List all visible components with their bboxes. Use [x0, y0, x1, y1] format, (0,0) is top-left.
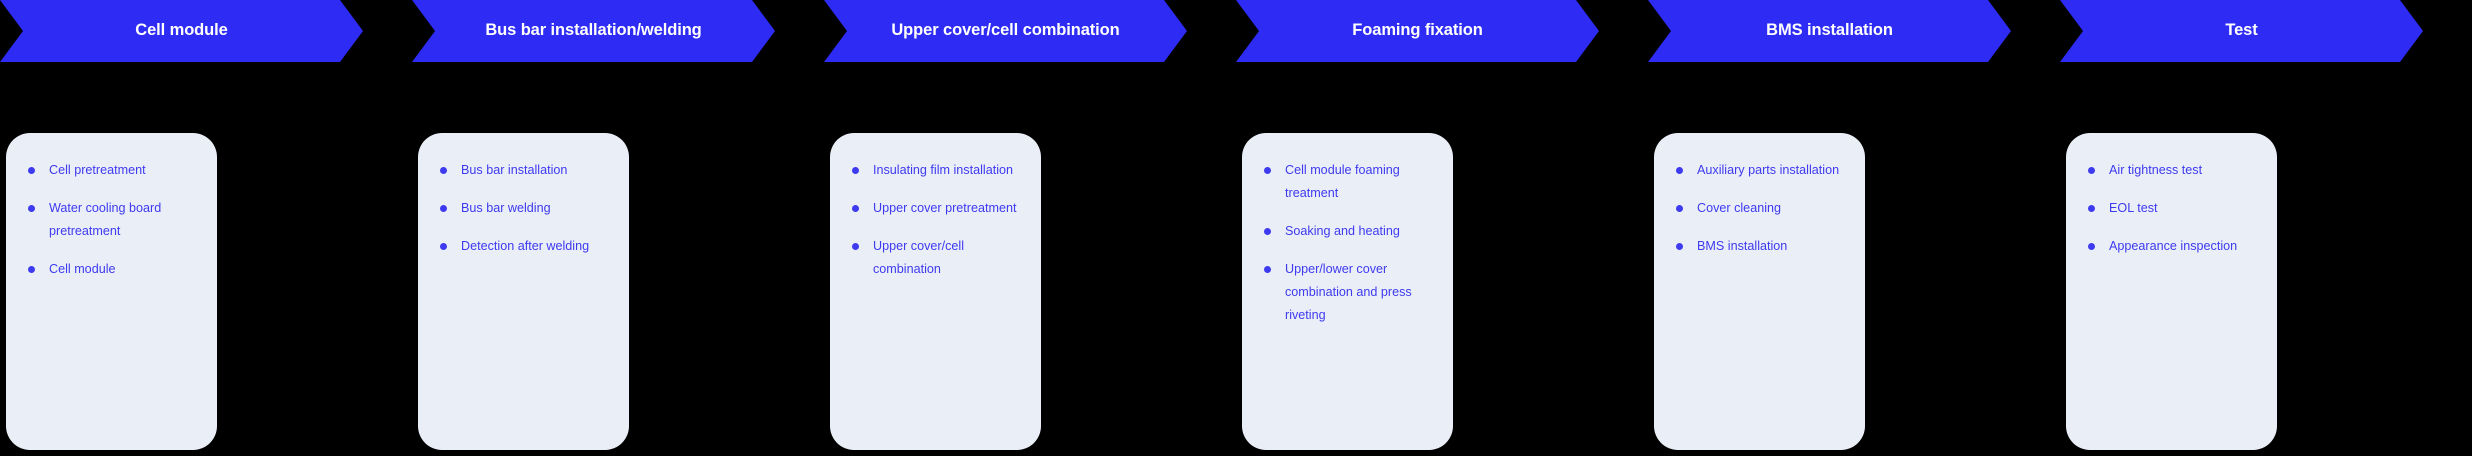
list-item: EOL test: [2088, 197, 2261, 220]
process-step-5: BMS installation Auxiliary parts install…: [1648, 0, 2060, 456]
list-item-label: Appearance inspection: [2109, 235, 2261, 258]
list-item: Upper cover pretreatment: [852, 197, 1025, 220]
step-4-title: Foaming fixation: [1352, 20, 1482, 41]
list-item-label: Bus bar installation: [461, 159, 613, 182]
list-item-label: Soaking and heating: [1285, 220, 1437, 243]
step-4-detail-card: Cell module foaming treatment Soaking an…: [1242, 133, 1453, 450]
bullet-dot-icon: [852, 243, 859, 250]
step-6-title: Test: [2225, 20, 2257, 41]
step-5-title: BMS installation: [1766, 20, 1893, 41]
step-1-title: Cell module: [135, 20, 227, 41]
bullet-dot-icon: [1264, 266, 1271, 273]
bullet-dot-icon: [1676, 167, 1683, 174]
bullet-dot-icon: [1676, 243, 1683, 250]
bullet-dot-icon: [2088, 243, 2095, 250]
list-item: Water cooling board pretreatment: [28, 197, 201, 243]
list-item-label: Air tightness test: [2109, 159, 2261, 182]
list-item: Detection after welding: [440, 235, 613, 258]
bullet-dot-icon: [440, 205, 447, 212]
list-item: Cell module foaming treatment: [1264, 159, 1437, 205]
list-item: Insulating film installation: [852, 159, 1025, 182]
list-item-label: Upper/lower cover combination and press …: [1285, 258, 1437, 327]
list-item-label: Cell module foaming treatment: [1285, 159, 1437, 205]
list-item-label: BMS installation: [1697, 235, 1849, 258]
step-2-bullet-list: Bus bar installation Bus bar welding Det…: [440, 159, 613, 258]
list-item: Soaking and heating: [1264, 220, 1437, 243]
step-6-detail-card: Air tightness test EOL test Appearance i…: [2066, 133, 2277, 450]
list-item-label: Upper cover pretreatment: [873, 197, 1025, 220]
process-step-6: Test Air tightness test EOL test Appeara…: [2060, 0, 2472, 456]
step-5-chevron-header[interactable]: BMS installation: [1648, 0, 2011, 62]
step-2-title: Bus bar installation/welding: [485, 20, 701, 41]
list-item-label: Cell pretreatment: [49, 159, 201, 182]
bullet-dot-icon: [440, 243, 447, 250]
process-step-3: Upper cover/cell combination Insulating …: [824, 0, 1236, 456]
list-item: Auxiliary parts installation: [1676, 159, 1849, 182]
list-item-label: Detection after welding: [461, 235, 613, 258]
step-5-detail-card: Auxiliary parts installation Cover clean…: [1654, 133, 1865, 450]
bullet-dot-icon: [28, 205, 35, 212]
step-1-bullet-list: Cell pretreatment Water cooling board pr…: [28, 159, 201, 281]
step-2-chevron-header[interactable]: Bus bar installation/welding: [412, 0, 775, 62]
process-flow-diagram: Cell module Cell pretreatment Water cool…: [0, 0, 2472, 456]
list-item: Bus bar installation: [440, 159, 613, 182]
list-item-label: Cell module: [49, 258, 201, 281]
step-4-chevron-header[interactable]: Foaming fixation: [1236, 0, 1599, 62]
bullet-dot-icon: [852, 167, 859, 174]
process-step-2: Bus bar installation/welding Bus bar ins…: [412, 0, 824, 456]
list-item-label: Bus bar welding: [461, 197, 613, 220]
list-item: Appearance inspection: [2088, 235, 2261, 258]
list-item-label: Insulating film installation: [873, 159, 1025, 182]
step-1-chevron-header[interactable]: Cell module: [0, 0, 363, 62]
step-6-bullet-list: Air tightness test EOL test Appearance i…: [2088, 159, 2261, 258]
list-item-label: Upper cover/cell combination: [873, 235, 1025, 281]
list-item: Air tightness test: [2088, 159, 2261, 182]
step-3-bullet-list: Insulating film installation Upper cover…: [852, 159, 1025, 281]
process-step-1: Cell module Cell pretreatment Water cool…: [0, 0, 412, 456]
bullet-dot-icon: [2088, 167, 2095, 174]
bullet-dot-icon: [1676, 205, 1683, 212]
list-item: Upper cover/cell combination: [852, 235, 1025, 281]
step-2-detail-card: Bus bar installation Bus bar welding Det…: [418, 133, 629, 450]
step-6-chevron-header[interactable]: Test: [2060, 0, 2423, 62]
list-item-label: Water cooling board pretreatment: [49, 197, 201, 243]
step-1-detail-card: Cell pretreatment Water cooling board pr…: [6, 133, 217, 450]
bullet-dot-icon: [1264, 167, 1271, 174]
list-item-label: Cover cleaning: [1697, 197, 1849, 220]
list-item: Cover cleaning: [1676, 197, 1849, 220]
list-item: Cell pretreatment: [28, 159, 201, 182]
process-step-4: Foaming fixation Cell module foaming tre…: [1236, 0, 1648, 456]
bullet-dot-icon: [2088, 205, 2095, 212]
step-4-bullet-list: Cell module foaming treatment Soaking an…: [1264, 159, 1437, 326]
list-item: Bus bar welding: [440, 197, 613, 220]
list-item-label: EOL test: [2109, 197, 2261, 220]
list-item: Cell module: [28, 258, 201, 281]
list-item-label: Auxiliary parts installation: [1697, 159, 1849, 182]
bullet-dot-icon: [28, 167, 35, 174]
step-3-chevron-header[interactable]: Upper cover/cell combination: [824, 0, 1187, 62]
step-3-detail-card: Insulating film installation Upper cover…: [830, 133, 1041, 450]
step-3-title: Upper cover/cell combination: [891, 20, 1119, 41]
list-item: BMS installation: [1676, 235, 1849, 258]
step-5-bullet-list: Auxiliary parts installation Cover clean…: [1676, 159, 1849, 258]
bullet-dot-icon: [852, 205, 859, 212]
list-item: Upper/lower cover combination and press …: [1264, 258, 1437, 327]
bullet-dot-icon: [440, 167, 447, 174]
bullet-dot-icon: [1264, 228, 1271, 235]
bullet-dot-icon: [28, 266, 35, 273]
